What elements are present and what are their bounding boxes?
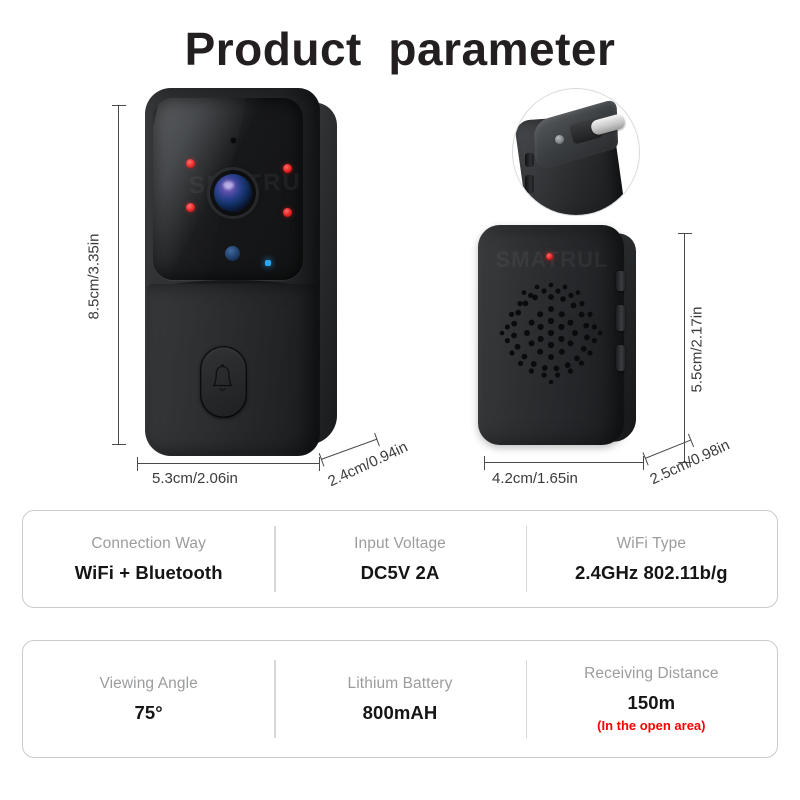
infrared-led-icon — [283, 164, 292, 173]
chime-height-label: 5.5cm/2.17in — [689, 290, 706, 410]
spec-card-row-1: Connection Way WiFi + Bluetooth Input Vo… — [22, 510, 778, 608]
doorbell-width-dimension-line — [137, 463, 320, 464]
spec-value: 800mAH — [363, 702, 438, 724]
usb-inset-side-button-3 — [525, 201, 534, 216]
screw-icon — [555, 135, 564, 144]
chime-body: SMATRUL — [478, 225, 624, 445]
spec-label: Lithium Battery — [348, 675, 453, 693]
chime-side-button-1[interactable] — [616, 271, 625, 291]
chime-side-button-3[interactable] — [616, 345, 625, 371]
spec-cell-connection-way: Connection Way WiFi + Bluetooth — [23, 511, 274, 607]
usb-inset-side-button-2 — [525, 175, 534, 193]
spec-label: Viewing Angle — [99, 675, 197, 693]
spec-cell-viewing-angle: Viewing Angle 75° — [23, 641, 274, 757]
spec-label: Receiving Distance — [584, 665, 718, 683]
spec-cell-input-voltage: Input Voltage DC5V 2A — [274, 511, 525, 607]
spec-cell-receiving-distance: Receiving Distance 150m (In the open are… — [526, 641, 777, 757]
spec-value: 2.4GHz 802.11b/g — [575, 562, 728, 584]
chime-width-dimension-line — [484, 462, 644, 463]
doorbell-front-glass-panel: SMATRUL — [153, 98, 303, 280]
spec-label: WiFi Type — [617, 535, 687, 553]
spec-label: Connection Way — [91, 535, 206, 553]
page-title: Product parameter — [0, 22, 800, 76]
doorbell-height-label: 8.5cm/3.35in — [86, 217, 103, 337]
doorbell-height-dimension-line — [118, 105, 119, 445]
spec-value: 75° — [135, 702, 163, 724]
power-led-icon — [546, 253, 553, 260]
speaker-grille-icon — [491, 273, 611, 393]
microphone-icon — [225, 246, 240, 261]
doorbell-body: SMATRUL SMATRUL — [145, 88, 320, 456]
usb-c-port-detail-inset — [512, 88, 640, 216]
bell-icon — [212, 362, 235, 396]
spec-note: (In the open area) — [597, 718, 705, 733]
chime-depth-label: 2.5cm/0.98in — [647, 436, 732, 488]
product-image-stage: SMATRUL SMATRUL — [0, 80, 800, 500]
spec-value: 150m — [627, 692, 675, 714]
spec-value: WiFi + Bluetooth — [75, 562, 223, 584]
chime-width-label: 4.2cm/1.65in — [492, 470, 578, 487]
chime-side-button-2[interactable] — [616, 305, 625, 331]
infrared-led-icon — [186, 159, 195, 168]
doorbell-width-label: 5.3cm/2.06in — [152, 470, 238, 487]
spec-value: DC5V 2A — [361, 562, 440, 584]
doorbell-press-button[interactable] — [200, 346, 247, 418]
usb-inset-side-button-1 — [525, 153, 534, 167]
infrared-led-icon — [186, 203, 195, 212]
spec-card-row-2: Viewing Angle 75° Lithium Battery 800mAH… — [22, 640, 778, 758]
chime-watermark: SMATRUL — [490, 247, 614, 273]
spec-cell-lithium-battery: Lithium Battery 800mAH — [274, 641, 525, 757]
infrared-led-icon — [283, 208, 292, 217]
light-sensor-icon — [231, 138, 236, 143]
status-led-icon — [265, 260, 271, 266]
chime-device: SMATRUL — [478, 225, 658, 455]
chime-height-dimension-line — [684, 233, 685, 463]
camera-lens-icon — [214, 174, 252, 212]
spec-cell-wifi-type: WiFi Type 2.4GHz 802.11b/g — [526, 511, 777, 607]
spec-label: Input Voltage — [354, 535, 446, 553]
doorbell-device: SMATRUL SMATRUL — [145, 88, 345, 458]
